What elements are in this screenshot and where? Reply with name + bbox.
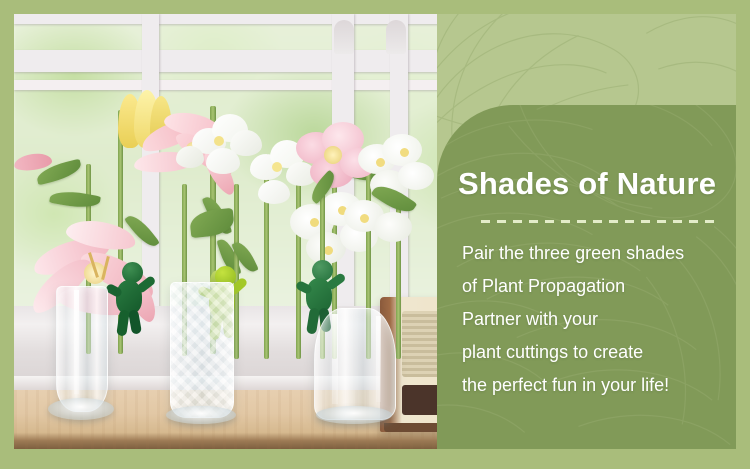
product-banner: Shades of Nature Pair the three green sh…	[0, 0, 750, 469]
page-title: Shades of Nature	[458, 166, 716, 202]
panel-description: Pair the three green shades of Plant Pro…	[462, 237, 737, 402]
description-line-4: plant cuttings to create	[462, 336, 737, 369]
description-line-5: the perfect fun in your life!	[462, 369, 737, 402]
description-line-2: of Plant Propagation	[462, 270, 737, 303]
description-line-3: Partner with your	[462, 303, 737, 336]
dashed-divider	[481, 220, 720, 223]
description-line-1: Pair the three green shades	[462, 237, 737, 270]
